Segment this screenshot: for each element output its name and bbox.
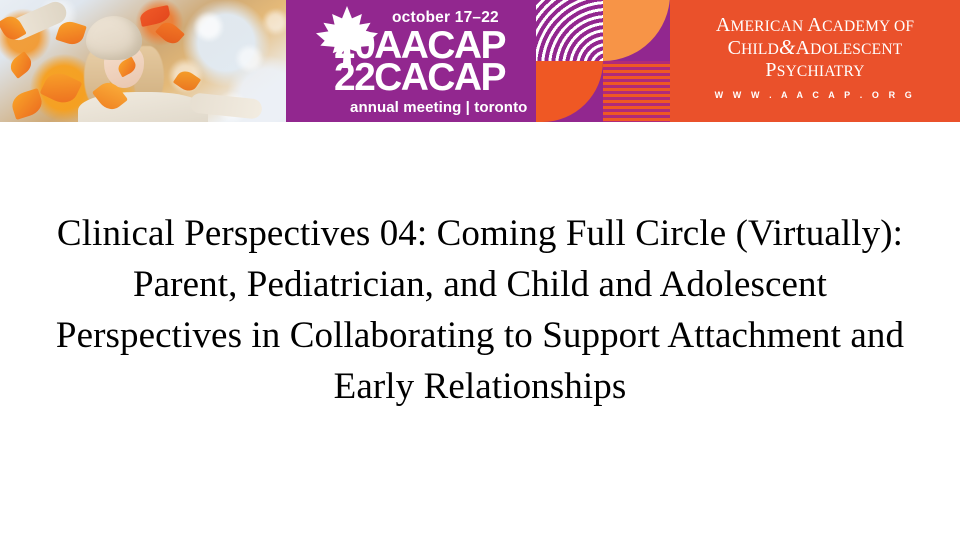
org-wordmark-line-1: AMERICAN ACADEMY OF <box>670 15 960 36</box>
aacap-org-panel: AMERICAN ACADEMY OF CHILD&ADOLESCENT PSY… <box>670 0 960 122</box>
banner-decoration-grid <box>536 0 670 122</box>
slide-banner: october 17–22 20AACAP 22CACAP annual mee… <box>0 0 960 122</box>
org-website-url: W W W . A A C A P . O R G <box>670 90 960 100</box>
quarter-circle-shape <box>603 0 670 61</box>
photo-child-hat <box>86 16 142 60</box>
presentation-slide: october 17–22 20AACAP 22CACAP annual mee… <box>0 0 960 540</box>
horizontal-stripes-icon <box>603 61 670 122</box>
slide-title: Clinical Perspectives 04: Coming Full Ci… <box>48 208 912 412</box>
quarter-circle-shape <box>536 61 603 122</box>
concentric-arcs-icon <box>536 0 603 61</box>
title-block: Clinical Perspectives 04: Coming Full Ci… <box>48 208 912 412</box>
meeting-logo-line-cacap: 22CACAP <box>334 58 505 97</box>
concentric-arcs-pattern <box>536 0 603 61</box>
meeting-tagline: annual meeting | toronto <box>350 99 527 116</box>
org-wordmark-line-3: PSYCHIATRY <box>670 60 960 81</box>
banner-photo-child-autumn <box>0 0 290 122</box>
quarter-circle-light-orange-icon <box>603 0 670 61</box>
quarter-circle-orange-icon <box>536 61 603 122</box>
aacap-meeting-lockup: october 17–22 20AACAP 22CACAP annual mee… <box>304 4 524 118</box>
org-wordmark-line-2: CHILD&ADOLESCENT <box>670 36 960 59</box>
aacap-org-wordmark: AMERICAN ACADEMY OF CHILD&ADOLESCENT PSY… <box>670 15 960 81</box>
ampersand-icon: & <box>779 35 796 59</box>
